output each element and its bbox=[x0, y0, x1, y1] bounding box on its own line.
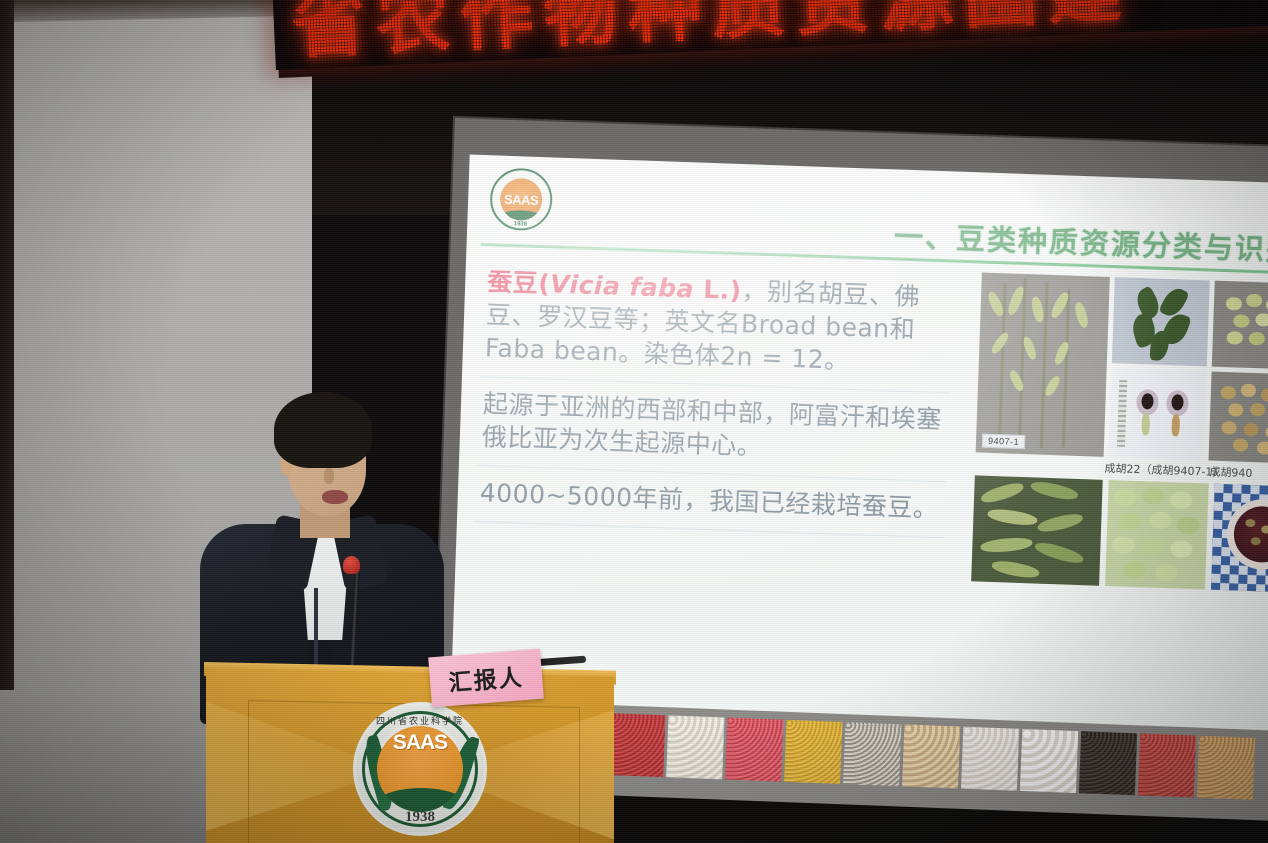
slide-logo-acronym: SAAS bbox=[504, 191, 539, 207]
emblem-year: 1938 bbox=[356, 809, 484, 826]
emblem-acronym: SAAS bbox=[356, 731, 484, 755]
presenter-name-card-text: 汇报人 bbox=[447, 658, 524, 698]
caption-spacer bbox=[975, 455, 1100, 475]
photo-faba-plant: 9407-1 bbox=[976, 272, 1110, 456]
slide-logo-year: 1938 bbox=[491, 220, 549, 228]
image-col-right: 9407- bbox=[1209, 281, 1268, 464]
photo-tan-seeds bbox=[1209, 372, 1268, 464]
paragraph-faba-intro: 蚕豆(Vicia faba L.)，别名胡豆、佛豆、罗汉豆等；英文名Broad … bbox=[480, 261, 954, 393]
speaker-mouth bbox=[322, 490, 348, 504]
caption-pod: 成胡22（成胡9407-1） bbox=[1104, 460, 1204, 479]
slide-saas-logo: SAAS 1938 bbox=[489, 167, 553, 231]
slide-content: SAAS 1938 一、豆类种质资源分类与识别 蚕豆(Vicia faba L.… bbox=[450, 155, 1268, 741]
presentation-photo-scene: 省农作物种质资源圃建 SAAS 1938 一、豆类种质资源分类与识别 蚕豆(Vi… bbox=[0, 0, 1268, 843]
microphone-head bbox=[343, 556, 360, 574]
photo-fresh-pods bbox=[971, 475, 1103, 585]
slide-body-column: 蚕豆(Vicia faba L.)，别名胡豆、佛豆、罗汉豆等；英文名Broad … bbox=[475, 261, 954, 538]
speaker-hair bbox=[274, 392, 372, 468]
photo-faba-flower-ruler bbox=[1109, 368, 1207, 460]
image-row-top: 9407-1 bbox=[976, 272, 1268, 463]
photo-faba-leaf bbox=[1112, 277, 1210, 366]
image-col-middle bbox=[1109, 277, 1210, 460]
photo-tag-plant: 9407-1 bbox=[982, 434, 1025, 449]
slide-image-grid: 9407-1 bbox=[971, 272, 1268, 592]
photo-green-seeds: 9407- bbox=[1212, 281, 1268, 370]
image-row-bottom bbox=[971, 475, 1268, 592]
caption-seed: 成胡940 bbox=[1209, 464, 1268, 483]
presenter-name-card: 汇报人 bbox=[428, 649, 544, 708]
slide-logo-disc: SAAS bbox=[499, 178, 542, 221]
podium-emblem: 四川省农业科学院 SAAS 1938 bbox=[353, 702, 487, 836]
photo-shelled-beans bbox=[1105, 480, 1209, 589]
speaker-nose bbox=[324, 468, 334, 484]
paragraph-origin: 起源于亚洲的西部和中部，阿富汗和埃塞俄比亚为次生起源中心。 bbox=[477, 377, 950, 482]
species-highlight: 蚕豆(Vicia faba L.) bbox=[487, 267, 742, 305]
photo-cooked-dish bbox=[1211, 484, 1268, 593]
